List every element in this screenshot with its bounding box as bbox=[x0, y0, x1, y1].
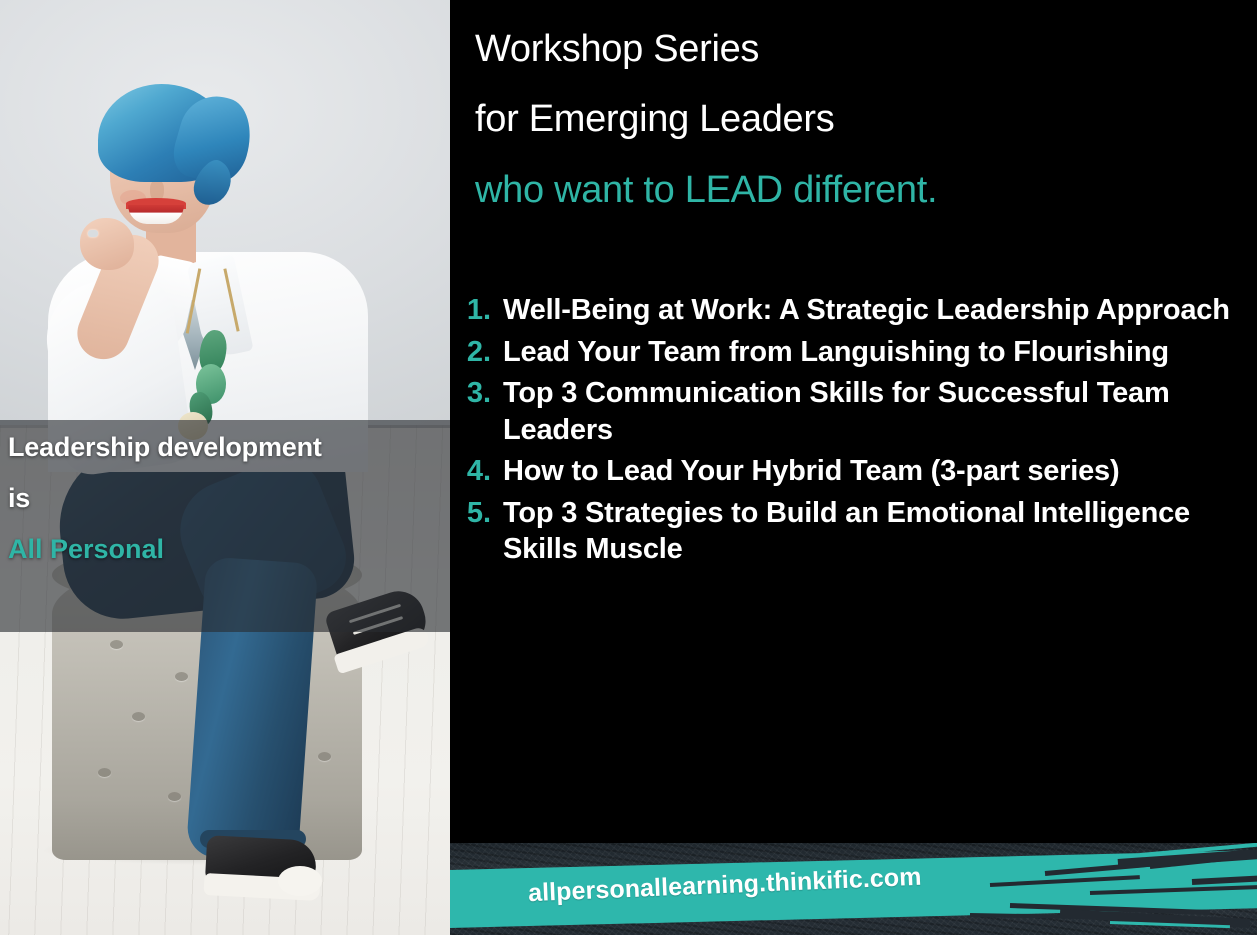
ottoman-tuft bbox=[318, 752, 331, 761]
ottoman-tuft bbox=[168, 792, 181, 801]
list-item-title: Lead Your Team from Languishing to Flour… bbox=[503, 334, 1255, 371]
photo-caption: Leadership development is All Personal bbox=[0, 420, 450, 632]
list-item-number: 2. bbox=[455, 334, 503, 371]
slide-canvas: Leadership development is All Personal W… bbox=[0, 0, 1257, 935]
hand-on-chin bbox=[80, 218, 134, 270]
ottoman-tuft bbox=[175, 672, 188, 681]
footer-banner: allpersonallearning.thinkific.com bbox=[450, 843, 1257, 935]
caption-line-1: Leadership development bbox=[8, 434, 450, 461]
list-item-title: Top 3 Communication Skills for Successfu… bbox=[503, 375, 1255, 448]
sneaker-toe-cap bbox=[278, 866, 322, 896]
ottoman-tuft bbox=[98, 768, 111, 777]
list-item-number: 3. bbox=[455, 375, 503, 412]
workshop-list: 1. Well-Being at Work: A Strategic Leade… bbox=[455, 292, 1255, 573]
title-block: Workshop Series for Emerging Leaders who… bbox=[475, 14, 1245, 225]
list-item: 1. Well-Being at Work: A Strategic Leade… bbox=[455, 292, 1255, 329]
list-item: 3. Top 3 Communication Skills for Succes… bbox=[455, 375, 1255, 448]
list-item-number: 1. bbox=[455, 292, 503, 329]
ottoman-tuft bbox=[110, 640, 123, 649]
list-item: 2. Lead Your Team from Languishing to Fl… bbox=[455, 334, 1255, 371]
title-line-2: for Emerging Leaders bbox=[475, 84, 1245, 154]
finger-ring bbox=[88, 230, 98, 237]
title-line-3-accent: who want to LEAD different. bbox=[475, 155, 1245, 225]
list-item: 4. How to Lead Your Hybrid Team (3-part … bbox=[455, 453, 1255, 490]
title-line-1: Workshop Series bbox=[475, 14, 1245, 84]
photo-panel: Leadership development is All Personal bbox=[0, 0, 450, 935]
list-item-title: How to Lead Your Hybrid Team (3-part ser… bbox=[503, 453, 1255, 490]
caption-line-2: is bbox=[8, 485, 450, 512]
ottoman-tuft bbox=[132, 712, 145, 721]
list-item-number: 5. bbox=[455, 495, 503, 532]
caption-line-3-accent: All Personal bbox=[8, 536, 450, 563]
list-item-number: 4. bbox=[455, 453, 503, 490]
list-item-title: Well-Being at Work: A Strategic Leadersh… bbox=[503, 292, 1255, 329]
content-panel: Workshop Series for Emerging Leaders who… bbox=[450, 0, 1257, 935]
list-item: 5. Top 3 Strategies to Build an Emotiona… bbox=[455, 495, 1255, 568]
list-item-title: Top 3 Strategies to Build an Emotional I… bbox=[503, 495, 1255, 568]
